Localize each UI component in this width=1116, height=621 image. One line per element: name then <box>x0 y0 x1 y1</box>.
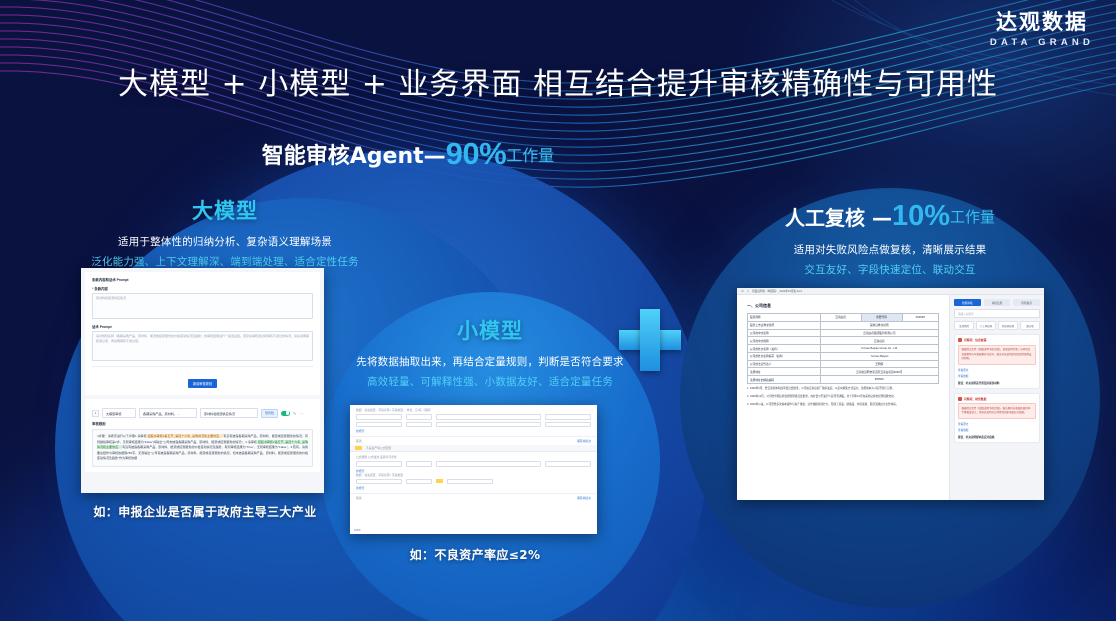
form-field-a1[interactable] <box>356 414 402 420</box>
page-title: 大模型 + 小模型 + 业务界面 相互结合提升审核精确性与可用性 <box>0 59 1116 103</box>
issue-card-header: 问题项：信息披露 <box>958 338 1036 342</box>
warning-icon <box>958 338 962 342</box>
edit-icon[interactable]: ✎ <box>293 411 296 416</box>
group-title: 不良资产率公式配置 <box>366 446 391 450</box>
review-sidebar: 智能审核审核结果风险提示 请输入关键词 全部风险人工审核项系统审核项通过项 问题… <box>949 295 1044 500</box>
big-model-desc-1: 适用于整体性的归纳分析、复杂语义理解场景 <box>60 234 390 249</box>
sidebar-tab[interactable]: 审核结果 <box>984 299 1011 306</box>
block-1-footer: 取消 保存并提交 <box>350 437 597 445</box>
rule-detail-box: 4步骤：请按序进行以下步骤1.请审核招股书审核2第五节_第四十六条_采购情况和主… <box>92 429 313 467</box>
form2-field-e[interactable] <box>356 479 402 485</box>
table-row: 注册地址云南省昆明市呈贡区云南白药街3066号 <box>748 368 939 376</box>
sidebar-issue-cards: 问题项：信息披露根据提交文件《招股说明书修订版》，招股说明书第三节中的信息披露项… <box>954 334 1040 443</box>
block-1-footer-left[interactable]: 取消 <box>356 439 362 443</box>
small-model-screenshot[interactable]: 数据：请先配置、字段名称 / 字段类型 ，单位：元/吨（保留） 新增行 取消 保… <box>350 405 597 534</box>
agent-headline-number: 90% <box>446 136 507 171</box>
issue-card[interactable]: 问题项：财务数据根据提交文件《招股说明书修订版》，报告期内应收账款周转率下降幅度… <box>954 393 1040 443</box>
table-row: 股票简称云南白药重要代码000538 <box>748 314 939 322</box>
form-block-2-sub: 公式规则 公式描述 运算符与条件 <box>356 455 591 459</box>
agent-headline-prefix: 智能审核Agent— <box>262 144 446 169</box>
sidebar-filter-chip[interactable]: 通过项 <box>1020 321 1040 330</box>
form2-field-f[interactable] <box>406 479 432 485</box>
rule-row-type[interactable]: 大模型审核 <box>102 408 136 418</box>
panel-divider <box>92 366 313 367</box>
plus-icon <box>619 309 681 371</box>
issue-card-suggestion: 建议：补充说明差异原因并提供材料 <box>958 381 1036 385</box>
table-row: 注册地址的邮政编码650500 <box>748 376 939 384</box>
form2-field-c[interactable] <box>436 461 541 467</box>
issue-card-suggestion: 建议：补充说明影响及应对措施 <box>958 435 1036 439</box>
document-paragraph: 2. 1996年12月，公司经中国证券监督管理委员会批准，向社会公开发行人民币普… <box>747 395 939 400</box>
form2-warning-icon <box>436 479 443 483</box>
small-model-heading-block: 小模型 先将数据抽取出来，再结合定量规则，判断是否符合要求 高效轻量、可解释性强… <box>330 315 650 389</box>
agent-headline-unit: 工作量 <box>506 146 554 165</box>
table-header-cell: 股票简称 <box>748 314 821 322</box>
clause-content-input[interactable]: 原材料和能源供应情况 <box>92 293 313 319</box>
table-cell-value: 深圳证券交易所 <box>820 321 938 329</box>
big-model-heading: 大模型 <box>60 195 390 225</box>
document-paragraph: 3. 2000年以来，公司历经多次资本运作与资产重组，业务规模持续扩大，形成了药… <box>747 403 939 408</box>
manual-review-screenshot[interactable]: 招股说明书（申报稿）_2024年03月版.docx 一、公司信息 股票简称云南白… <box>737 288 1044 500</box>
issue-card-title: 问题项：财务数据 <box>964 397 986 401</box>
manual-review-desc-1: 适用对失败风险点做复核，清晰展示结果 <box>690 242 1090 257</box>
agent-headline: 智能审核Agent—90%工作量 <box>108 136 708 172</box>
group-icon <box>355 446 362 450</box>
issue-card-alert: 根据提交文件《招股说明书修订版》，招股说明书第三节中的信息披露项与年报披露存在差… <box>958 345 1036 366</box>
form-field-b2[interactable] <box>406 422 432 428</box>
prompt-script-input[interactable]: 请对规则名称（各期采购产品、原材料、能源或接受服务的价格变动情况及趋势）的审核结… <box>92 331 313 361</box>
issue-card-header: 问题项：财务数据 <box>958 397 1036 401</box>
table-cell-value: Yunnan Baiyao Group Co., Ltd. <box>820 345 938 353</box>
big-model-caption: 如：申报企业是否属于政府主导三大产业 <box>60 503 350 520</box>
table-row: 公司的外文名称缩写（如有）Yunnan Baiyao <box>748 352 939 360</box>
table-row: 公司的法定代表人王明辉 <box>748 360 939 368</box>
prompt-script-label: 话术 Prompt <box>92 324 313 329</box>
brand-logo-cn: 达观数据 <box>990 12 1094 33</box>
table-row: 公司的外文名称（如有）Yunnan Baiyao Group Co., Ltd. <box>748 345 939 353</box>
big-model-desc-2: 泛化能力强、上下文理解深、端到端处理、适合定性任务 <box>60 254 390 269</box>
form-block-1-line-1 <box>356 414 591 420</box>
brand-logo: 达观数据 DATA GRAND <box>990 12 1094 48</box>
form-field-c1[interactable] <box>436 414 541 420</box>
block-2-footer-left[interactable]: 取消 <box>356 496 362 500</box>
table-cell-value: 云南白药集团股份有限公司 <box>820 329 938 337</box>
more-icon[interactable]: ⋯ <box>299 411 303 416</box>
table-cell-value: 650500 <box>820 376 938 384</box>
manual-review-heading-cn: 人工复核 — <box>785 206 892 230</box>
rule-row-scope[interactable]: 各期采购产品、原材料、… <box>139 408 197 418</box>
small-model-desc-1: 先将数据抽取出来，再结合定量规则，判断是否符合要求 <box>330 354 650 369</box>
warning-icon <box>958 397 962 401</box>
table-row: 股票上市证券交易所深圳证券交易所 <box>748 321 939 329</box>
form2-field-d[interactable] <box>545 461 591 467</box>
plus-icon-bar-v <box>640 309 660 371</box>
form-field-d2[interactable] <box>545 422 591 428</box>
sidebar-search-input[interactable]: 请输入关键词 <box>954 309 1040 318</box>
rule-row-index: 1 <box>92 410 99 417</box>
issue-card-link-evidence[interactable]: 查看依据 <box>958 374 1036 378</box>
issue-card-link-evidence[interactable]: 查看依据 <box>958 428 1036 432</box>
document-paragraph: 1. 1993年5月，经云南省体制改革委员会批准，公司由云南白药厂独家发起，以定… <box>747 387 939 392</box>
clause-content-label: 条款内容 <box>92 286 313 291</box>
issue-card-alert: 根据提交文件《招股说明书修订版》，报告期内应收账款周转率下降幅度较大，需补充说明… <box>958 403 1036 419</box>
sidebar-tab[interactable]: 风险提示 <box>1013 299 1040 306</box>
manual-review-heading: 人工复核 —10%工作量 <box>690 200 1090 233</box>
rule-row-field[interactable]: 原材料和能源供应情况 <box>200 408 258 418</box>
add-rule-button[interactable]: 新增审核规则 <box>188 379 217 388</box>
form-block-2: 公式规则 公式描述 运算符与条件 新增行 数据：请先配置、字段名称 / 字段类型… <box>350 452 597 494</box>
block-2-footer-right[interactable]: 保存并提交 <box>577 496 591 500</box>
sidebar-filter-chip[interactable]: 人工审核项 <box>976 321 996 330</box>
sidebar-filter-chip[interactable]: 全部风险 <box>954 321 974 330</box>
sidebar-filter-chip[interactable]: 系统审核项 <box>998 321 1018 330</box>
big-model-screenshot[interactable]: 条款内容和话术 Prompt 条款内容 原材料和能源供应情况 话术 Prompt… <box>81 268 324 493</box>
small-model-desc-2: 高效轻量、可解释性强、小数据友好、适合定量任务 <box>330 374 650 389</box>
rule-text-3: 有没有披露各期采购产品、原材料、能源或接受服务的价格变动情况及趋势，有则审核结果… <box>97 445 308 460</box>
table-cell-key: 公司的中文名称 <box>748 329 821 337</box>
manual-review-heading-num: 10% <box>892 200 950 232</box>
form-block-2-line-2 <box>356 479 591 485</box>
document-heading: 一、公司信息 <box>747 303 939 309</box>
sidebar-tab[interactable]: 智能审核 <box>954 299 981 306</box>
table-cell-value: Yunnan Baiyao <box>820 352 938 360</box>
slide-canvas: 达观数据 DATA GRAND 大模型 + 小模型 + 业务界面 相互结合提升审… <box>0 0 1116 621</box>
review-body: 一、公司信息 股票简称云南白药重要代码000538股票上市证券交易所深圳证券交易… <box>737 295 1044 500</box>
form-block-1-hint: 数据：请先配置、字段名称 / 字段类型 ，单位：元/吨（保留） <box>356 408 591 412</box>
rule-highlight-1: 招股书审核2第五节_第四十六条_采购情况和主要供应… <box>147 434 224 438</box>
table-cell-key: 公司的外文名称（如有） <box>748 345 821 353</box>
manual-review-desc-2: 交互友好、字段快速定位、联动交互 <box>690 262 1090 277</box>
big-model-heading-block: 大模型 适用于整体性的归纳分析、复杂语义理解场景 泛化能力强、上下文理解深、端到… <box>60 195 390 269</box>
rule-detail-text: 4步骤：请按序进行以下步骤1.请审核招股书审核2第五节_第四十六条_采购情况和主… <box>97 434 308 462</box>
form2-field-a[interactable] <box>356 461 402 467</box>
menu-icon[interactable] <box>747 290 750 293</box>
document-viewer[interactable]: 一、公司信息 股票简称云南白药重要代码000538股票上市证券交易所深圳证券交易… <box>737 295 949 500</box>
table-header-cell: 000538 <box>902 314 938 322</box>
document-tab-title[interactable]: 招股说明书（申报稿）_2024年03月版.docx <box>752 289 802 293</box>
issue-card-title: 问题项：信息披露 <box>964 338 986 342</box>
form-block-1: 数据：请先配置、字段名称 / 字段类型 ，单位：元/吨（保留） 新增行 <box>350 405 597 437</box>
form2-field-b[interactable] <box>406 461 432 467</box>
form2-field-g[interactable] <box>447 479 493 485</box>
rule-detail-title: 审核规则 <box>92 421 313 426</box>
table-cell-key: 公司的中文简称 <box>748 337 821 345</box>
zoom-level-label: 100% <box>354 529 361 532</box>
manual-review-heading-unit: 工作量 <box>950 208 995 226</box>
company-info-table: 股票简称云南白药重要代码000538股票上市证券交易所深圳证券交易所公司的中文名… <box>747 313 939 384</box>
group-header-bar: 不良资产率公式配置 <box>350 445 597 452</box>
form-field-c2[interactable] <box>436 422 541 428</box>
document-paragraphs: 1. 1993年5月，经云南省体制改革委员会批准，公司由云南白药厂独家发起，以定… <box>747 387 939 408</box>
form-block-1-line-2 <box>356 422 591 428</box>
manual-review-heading-block: 人工复核 —10%工作量 适用对失败风险点做复核，清晰展示结果 交互友好、字段快… <box>690 200 1090 277</box>
table-cell-key: 公司的外文名称缩写（如有） <box>748 352 821 360</box>
prompt-config-panel: 条款内容和话术 Prompt 条款内容 原材料和能源供应情况 话术 Prompt… <box>85 272 320 395</box>
table-row: 公司的中文简称云南白药 <box>748 337 939 345</box>
table-cell-key: 注册地址的邮政编码 <box>748 376 821 384</box>
issue-card[interactable]: 问题项：信息披露根据提交文件《招股说明书修订版》，招股说明书第三节中的信息披露项… <box>954 334 1040 389</box>
risk-badge: 低风险 <box>261 409 278 418</box>
rule-row-panel: 1 大模型审核 各期采购产品、原材料、… 原材料和能源供应情况 低风险 ✎ ⋯ … <box>85 399 320 472</box>
add-row-link-1[interactable]: 新增行 <box>356 429 591 433</box>
table-cell-key: 注册地址 <box>748 368 821 376</box>
back-icon[interactable] <box>741 290 744 293</box>
table-cell-value: 王明辉 <box>820 360 938 368</box>
table-cell-value: 云南白药 <box>820 337 938 345</box>
small-model-caption: 如：不良资产率应≤2% <box>350 546 600 563</box>
add-row-link-3[interactable]: 新增行 <box>356 486 591 490</box>
sidebar-filter-chips: 全部风险人工审核项系统审核项通过项 <box>954 321 1040 330</box>
table-row: 公司的中文名称云南白药集团股份有限公司 <box>748 329 939 337</box>
form-field-a2[interactable] <box>356 422 402 428</box>
brand-logo-en: DATA GRAND <box>990 38 1094 48</box>
rule-enable-toggle[interactable] <box>281 411 290 416</box>
sidebar-tabs: 智能审核审核结果风险提示 <box>954 299 1040 306</box>
form-field-d1[interactable] <box>545 414 591 420</box>
document-toolbar: 招股说明书（申报稿）_2024年03月版.docx <box>737 288 1044 295</box>
table-cell-key: 公司的法定代表人 <box>748 360 821 368</box>
table-header-cell: 重要代码 <box>861 314 902 322</box>
issue-card-link-source[interactable]: 查看原文 <box>958 368 1036 372</box>
form-block-2-hint: 数据：请先配置、字段名称 / 字段类型 <box>356 473 591 477</box>
block-1-footer-right[interactable]: 保存并提交 <box>577 439 591 443</box>
rule-text-1: 4步骤：请按序进行以下步骤1.请审核 <box>97 434 147 438</box>
table-cell-key: 股票上市证券交易所 <box>748 321 821 329</box>
form-field-b1[interactable] <box>406 414 432 420</box>
rule-row[interactable]: 1 大模型审核 各期采购产品、原材料、… 原材料和能源供应情况 低风险 ✎ ⋯ <box>92 408 313 418</box>
table-cell-value: 云南省昆明市呈贡区云南白药街3066号 <box>820 368 938 376</box>
small-model-heading: 小模型 <box>330 315 650 345</box>
issue-card-link-source[interactable]: 查看原文 <box>958 422 1036 426</box>
table-header-cell: 云南白药 <box>820 314 861 322</box>
block-2-footer: 取消 保存并提交 <box>350 494 597 502</box>
form-block-2-line-1 <box>356 461 591 467</box>
